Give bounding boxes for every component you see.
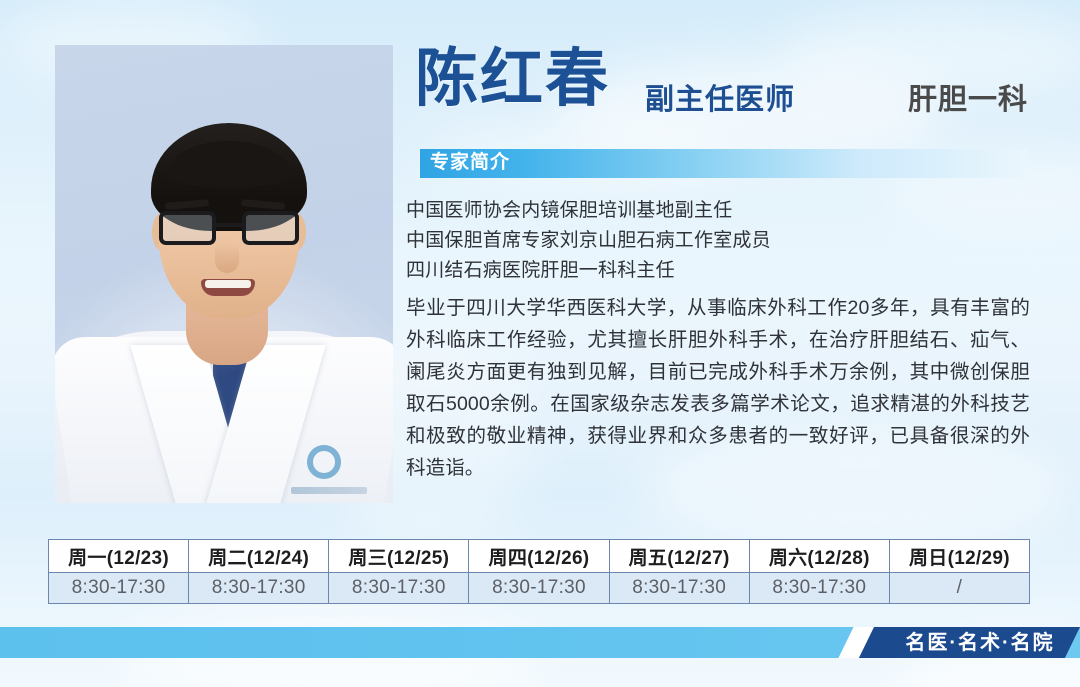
schedule-day-header: 周二(12/24)	[189, 540, 329, 573]
mouth	[201, 279, 255, 296]
teeth	[205, 280, 251, 288]
schedule-hours-cell: 8:30-17:30	[609, 573, 749, 604]
left-lens	[159, 211, 216, 245]
schedule-day-header: 周四(12/26)	[469, 540, 609, 573]
department-name: 肝胆一科	[908, 86, 1028, 115]
schedule-day-header: 周五(12/27)	[609, 540, 749, 573]
schedule-hours-cell: /	[889, 573, 1029, 604]
schedule-hours-cell: 8:30-17:30	[189, 573, 329, 604]
footer-slogan-text: 名医·名术·名院	[900, 631, 1060, 655]
schedule-day-header: 周日(12/29)	[889, 540, 1029, 573]
expert-intro-section-bar: 专家简介	[420, 149, 1028, 178]
schedule-hours-cell: 8:30-17:30	[749, 573, 889, 604]
doctor-name: 陈红春	[415, 48, 610, 111]
nose	[215, 243, 239, 273]
hospital-logo-wordmark	[291, 487, 367, 494]
schedule-hours-cell: 8:30-17:30	[49, 573, 189, 604]
hospital-logo-icon	[307, 445, 341, 479]
credential-line: 中国保胆首席专家刘京山胆石病工作室成员	[406, 226, 1030, 256]
weekly-schedule-table: 周一(12/23) 周二(12/24) 周三(12/25) 周四(12/26) …	[48, 539, 1030, 604]
schedule-day-header: 周六(12/28)	[749, 540, 889, 573]
doctor-rank-title: 副主任医师	[645, 86, 795, 115]
expert-intro-section-title: 专家简介	[430, 153, 510, 174]
schedule-day-header: 周一(12/23)	[49, 540, 189, 573]
schedule-day-header: 周三(12/25)	[329, 540, 469, 573]
schedule-hours-cell: 8:30-17:30	[329, 573, 469, 604]
schedule-hours-cell: 8:30-17:30	[469, 573, 609, 604]
table-header-row: 周一(12/23) 周二(12/24) 周三(12/25) 周四(12/26) …	[49, 540, 1030, 573]
credential-line: 中国医师协会内镜保胆培训基地副主任	[406, 196, 1030, 226]
biography-paragraph: 毕业于四川大学华西医科大学，从事临床外科工作20多年，具有丰富的外科临床工作经验…	[406, 292, 1030, 484]
glasses-bridge	[216, 223, 242, 227]
right-lens	[242, 211, 299, 245]
credential-line: 四川结石病医院肝胆一科科主任	[406, 256, 1030, 286]
eyeglasses-icon	[159, 211, 299, 247]
biography-block: 中国医师协会内镜保胆培训基地副主任 中国保胆首席专家刘京山胆石病工作室成员 四川…	[406, 196, 1030, 484]
doctor-portrait-photo	[55, 45, 393, 503]
doctor-profile-card: 陈红春 副主任医师 肝胆一科 专家简介 中国医师协会内镜保胆培训基地副主任 中国…	[0, 0, 1080, 687]
table-row: 8:30-17:30 8:30-17:30 8:30-17:30 8:30-17…	[49, 573, 1030, 604]
